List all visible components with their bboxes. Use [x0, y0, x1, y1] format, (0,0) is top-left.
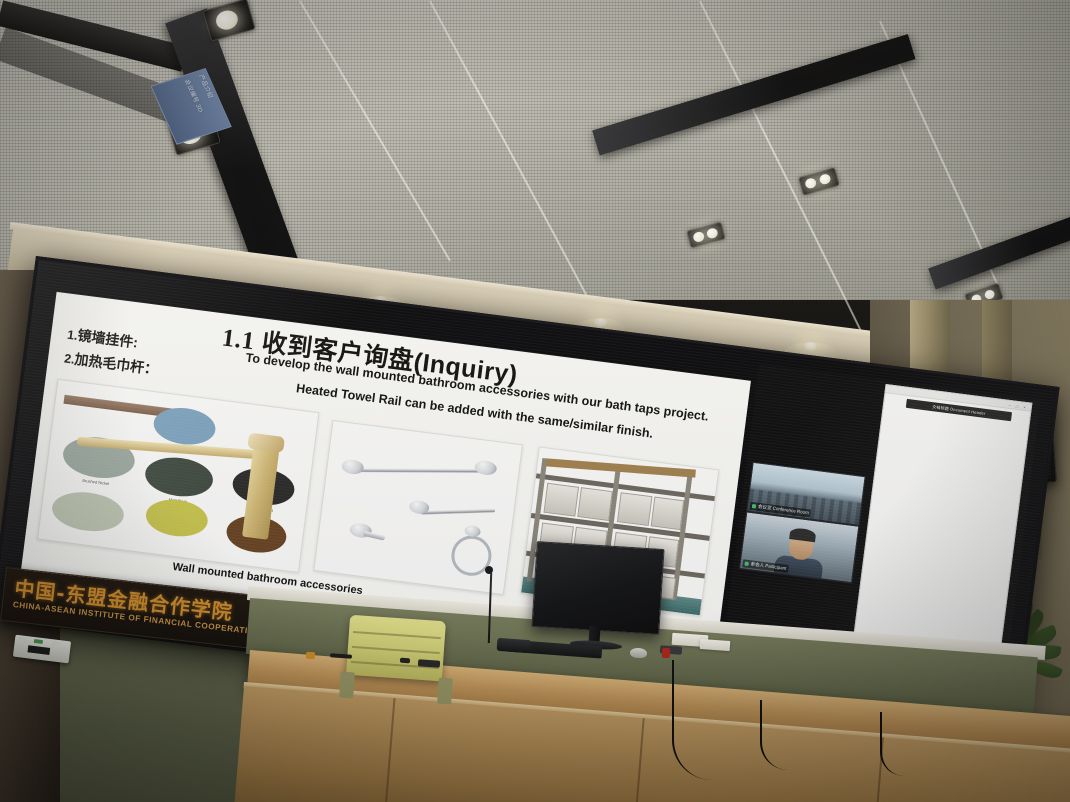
towel-bar-mount	[341, 459, 365, 476]
soffit-downlight	[594, 318, 607, 327]
paper-document[interactable]	[700, 639, 731, 651]
chair-arm	[437, 678, 453, 705]
desktop-monitor[interactable]	[531, 541, 664, 635]
slide-bullet-2: 2.加热毛巾杆：	[63, 348, 159, 380]
microphone-base[interactable]	[497, 638, 532, 653]
towel-bar-short	[421, 509, 495, 515]
mic-icon	[744, 562, 748, 566]
robe-hook	[363, 531, 386, 541]
mouse[interactable]	[630, 647, 648, 658]
bullet-2-chinese: 加热毛巾杆：	[74, 351, 159, 378]
mic-icon	[752, 504, 756, 508]
soffit-downlight	[804, 342, 817, 351]
cable	[672, 660, 714, 780]
desk-scissors[interactable]	[662, 648, 671, 659]
chair-arm	[339, 672, 355, 699]
towel-bar-long	[354, 468, 488, 473]
device-display	[27, 645, 50, 655]
conference-room-scene: 产品介绍 会议编号 3D	[0, 0, 1070, 802]
towel-bar-mount	[474, 460, 498, 477]
microphone-head	[485, 566, 493, 574]
vc-speaker-video	[740, 512, 858, 582]
desk-remote[interactable]	[418, 659, 440, 668]
finish-swatch-panel: Brushed Nickel Blue Finish Matt Black Gu…	[37, 379, 319, 573]
bullet-1-chinese: 镜墙挂件:	[77, 327, 139, 351]
desk-marker[interactable]	[306, 652, 315, 660]
presenter-chair[interactable]	[346, 615, 446, 682]
swatch-pale-sage	[50, 488, 126, 535]
swatch-dark-olive	[143, 454, 215, 500]
desk-remote[interactable]	[400, 658, 410, 664]
swatch-sky-blue	[152, 404, 218, 448]
window-controls-icon[interactable]: − □ ×	[1008, 402, 1028, 409]
